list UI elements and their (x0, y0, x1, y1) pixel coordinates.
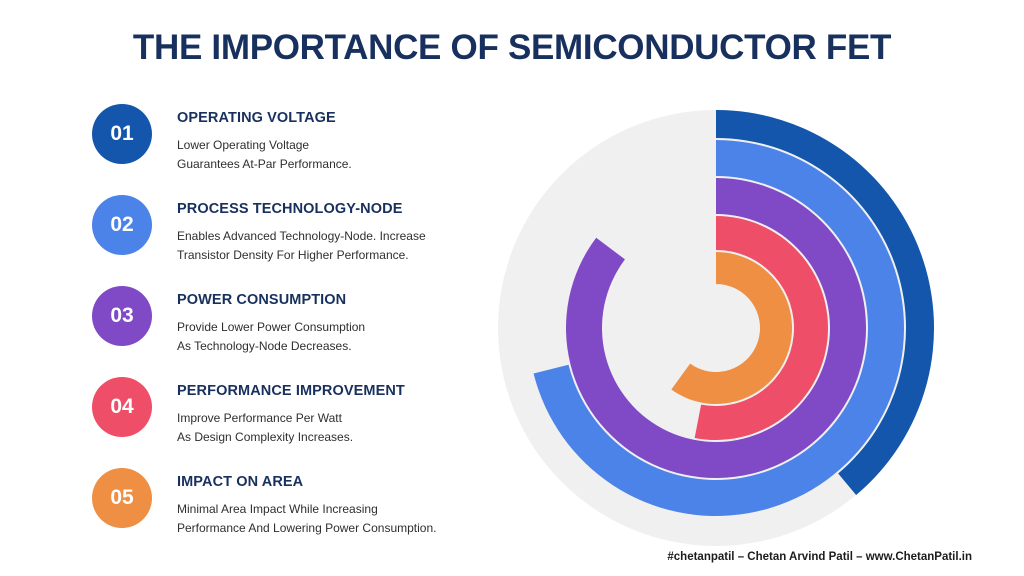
item-description: Enables Advanced Technology-Node. Increa… (177, 227, 487, 263)
item-number-badge: 03 (92, 286, 152, 346)
item-description-line: Improve Performance Per Watt (177, 409, 487, 427)
list-item[interactable]: 03POWER CONSUMPTIONProvide Lower Power C… (92, 286, 492, 377)
item-heading: PERFORMANCE IMPROVEMENT (177, 383, 487, 400)
slide-canvas: THE IMPORTANCE OF SEMICONDUCTOR FET 01OP… (0, 0, 1024, 576)
item-number-badge: 05 (92, 468, 152, 528)
item-body: PROCESS TECHNOLOGY-NODEEnables Advanced … (177, 201, 487, 264)
item-description-line: Provide Lower Power Consumption (177, 318, 487, 336)
item-description: Minimal Area Impact While IncreasingPerf… (177, 500, 487, 536)
item-description-line: Performance And Lowering Power Consumpti… (177, 519, 487, 537)
item-number-badge: 04 (92, 377, 152, 437)
item-description-line: As Design Complexity Increases. (177, 428, 487, 446)
item-body: PERFORMANCE IMPROVEMENTImprove Performan… (177, 383, 487, 446)
item-description: Improve Performance Per WattAs Design Co… (177, 409, 487, 445)
item-number-badge: 01 (92, 104, 152, 164)
item-description-line: Lower Operating Voltage (177, 136, 487, 154)
item-heading: OPERATING VOLTAGE (177, 110, 487, 127)
item-heading: IMPACT ON AREA (177, 474, 487, 491)
item-body: IMPACT ON AREAMinimal Area Impact While … (177, 474, 487, 537)
item-description-line: Guarantees At-Par Performance. (177, 155, 487, 173)
item-body: POWER CONSUMPTIONProvide Lower Power Con… (177, 292, 487, 355)
radial-chart-svg (498, 110, 934, 546)
list-item[interactable]: 02PROCESS TECHNOLOGY-NODEEnables Advance… (92, 195, 492, 286)
page-title: THE IMPORTANCE OF SEMICONDUCTOR FET (0, 28, 1024, 68)
radial-bar-chart (498, 110, 934, 546)
item-description: Provide Lower Power ConsumptionAs Techno… (177, 318, 487, 354)
item-description-line: Transistor Density For Higher Performanc… (177, 246, 487, 264)
footer-credit: #chetanpatil – Chetan Arvind Patil – www… (667, 551, 972, 563)
item-description: Lower Operating VoltageGuarantees At-Par… (177, 136, 487, 172)
item-description-line: As Technology-Node Decreases. (177, 337, 487, 355)
list-item[interactable]: 04PERFORMANCE IMPROVEMENTImprove Perform… (92, 377, 492, 468)
list-item[interactable]: 01OPERATING VOLTAGELower Operating Volta… (92, 104, 492, 195)
feature-list: 01OPERATING VOLTAGELower Operating Volta… (92, 104, 492, 559)
item-description-line: Enables Advanced Technology-Node. Increa… (177, 227, 487, 245)
item-body: OPERATING VOLTAGELower Operating Voltage… (177, 110, 487, 173)
item-number-badge: 02 (92, 195, 152, 255)
item-heading: POWER CONSUMPTION (177, 292, 487, 309)
list-item[interactable]: 05IMPACT ON AREAMinimal Area Impact Whil… (92, 468, 492, 559)
item-heading: PROCESS TECHNOLOGY-NODE (177, 201, 487, 218)
item-description-line: Minimal Area Impact While Increasing (177, 500, 487, 518)
